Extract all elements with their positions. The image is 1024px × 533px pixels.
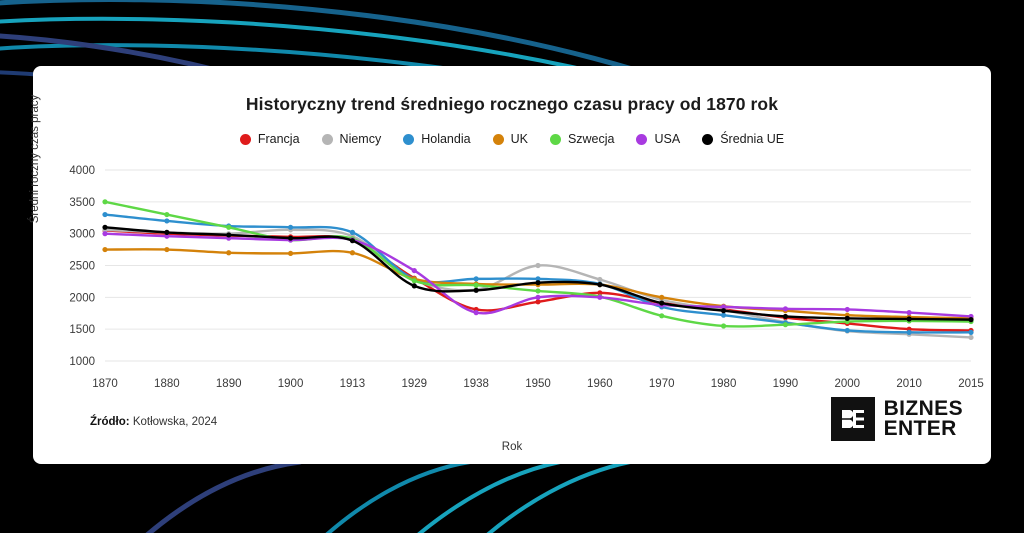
chart-legend: Francja Niemcy Holandia UK Szwecja USA Ś…: [33, 132, 991, 146]
logo-line-2: ENTER: [884, 419, 963, 439]
series-lines: [102, 199, 973, 340]
logo-text: BIZNES ENTER: [884, 399, 963, 439]
series-holandia: [102, 212, 973, 335]
svg-text:2500: 2500: [69, 261, 95, 273]
svg-text:4000: 4000: [69, 165, 95, 177]
svg-text:1900: 1900: [278, 378, 304, 390]
svg-text:2015: 2015: [958, 378, 984, 390]
svg-text:1870: 1870: [92, 378, 118, 390]
legend-label-holandia: Holandia: [421, 132, 470, 146]
svg-text:3500: 3500: [69, 197, 95, 209]
source-value: Kotłowska, 2024: [133, 416, 217, 428]
x-axis-ticks: 1870188018901900191319291938195019601970…: [92, 378, 984, 390]
svg-text:2010: 2010: [896, 378, 922, 390]
legend-swatch-szwecja: [550, 134, 561, 145]
svg-text:1980: 1980: [711, 378, 737, 390]
svg-text:1970: 1970: [649, 378, 675, 390]
svg-text:3000: 3000: [69, 229, 95, 241]
be-monogram-icon: [840, 408, 866, 430]
svg-text:1950: 1950: [525, 378, 551, 390]
chart-card: Historyczny trend średniego rocznego cza…: [33, 66, 991, 464]
legend-swatch-uk: [493, 134, 504, 145]
source-note: Źródło: Kotłowska, 2024: [90, 416, 217, 428]
svg-text:1000: 1000: [69, 356, 95, 368]
legend-label-uk: UK: [511, 132, 528, 146]
legend-label-francja: Francja: [258, 132, 300, 146]
y-axis-label: Średni roczny czas pracy: [29, 64, 41, 254]
svg-text:1500: 1500: [69, 324, 95, 336]
svg-text:1938: 1938: [463, 378, 489, 390]
legend-item-francja[interactable]: Francja: [240, 132, 300, 146]
x-axis-label: Rok: [33, 441, 991, 453]
legend-label-usa: USA: [654, 132, 680, 146]
legend-label-szwecja: Szwecja: [568, 132, 615, 146]
legend-item-holandia[interactable]: Holandia: [403, 132, 470, 146]
legend-swatch-holandia: [403, 134, 414, 145]
svg-text:2000: 2000: [834, 378, 860, 390]
svg-text:2000: 2000: [69, 292, 95, 304]
legend-item-usa[interactable]: USA: [636, 132, 680, 146]
legend-swatch-srednia-ue: [702, 134, 713, 145]
page-title: Historyczny trend średniego rocznego cza…: [33, 94, 991, 115]
source-label: Źródło:: [90, 416, 130, 428]
logo-mark: [831, 397, 875, 441]
legend-swatch-usa: [636, 134, 647, 145]
legend-swatch-niemcy: [322, 134, 333, 145]
series-usa: [102, 231, 973, 319]
legend-label-srednia-ue: Średnia UE: [720, 132, 784, 146]
svg-text:1913: 1913: [340, 378, 366, 390]
logo-line-1: BIZNES: [884, 399, 963, 419]
brand-logo: BIZNES ENTER: [831, 397, 963, 441]
legend-label-niemcy: Niemcy: [340, 132, 382, 146]
svg-text:1990: 1990: [773, 378, 799, 390]
svg-text:1880: 1880: [154, 378, 180, 390]
svg-text:1929: 1929: [401, 378, 427, 390]
legend-item-niemcy[interactable]: Niemcy: [322, 132, 382, 146]
legend-item-uk[interactable]: UK: [493, 132, 528, 146]
legend-item-srednia-ue[interactable]: Średnia UE: [702, 132, 784, 146]
legend-swatch-francja: [240, 134, 251, 145]
svg-text:1890: 1890: [216, 378, 242, 390]
svg-text:1960: 1960: [587, 378, 613, 390]
y-axis-ticks: 1000150020002500300035004000: [69, 165, 95, 368]
legend-item-szwecja[interactable]: Szwecja: [550, 132, 615, 146]
